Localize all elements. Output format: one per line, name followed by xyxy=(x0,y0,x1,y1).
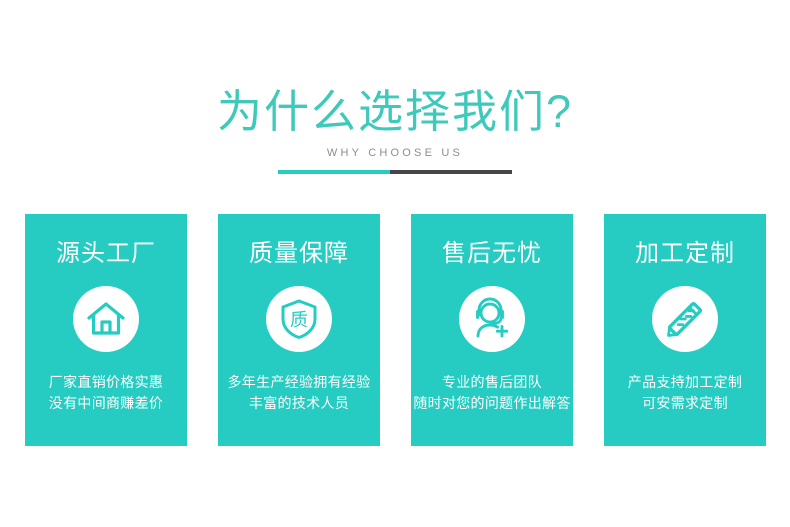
feature-card-custom-processing[interactable]: 加工定制 xyxy=(604,214,766,446)
house-icon xyxy=(84,297,128,341)
shield-quality-icon: 质 xyxy=(277,297,321,341)
title-divider xyxy=(278,170,512,174)
card-description: 专业的售后团队 随时对您的问题作出解答 xyxy=(411,372,573,414)
card-description-line-2: 丰富的技术人员 xyxy=(218,393,380,414)
card-description: 多年生产经验拥有经验 丰富的技术人员 xyxy=(218,372,380,414)
card-icon-circle xyxy=(652,286,718,352)
card-title: 质量保障 xyxy=(218,238,380,270)
feature-card-source-factory[interactable]: 源头工厂 厂家直销价格实惠 没有中间商赚差价 xyxy=(25,214,187,446)
divider-dark-segment xyxy=(390,170,512,174)
card-description-line-2: 没有中间商赚差价 xyxy=(25,393,187,414)
header-block: 为什么选择我们? WHY CHOOSE US xyxy=(0,84,790,161)
card-description-line-1: 专业的售后团队 xyxy=(411,372,573,393)
card-title: 售后无忧 xyxy=(411,238,573,270)
card-icon-circle xyxy=(73,286,139,352)
card-description: 产品支持加工定制 可安需求定制 xyxy=(604,372,766,414)
ruler-pencil-icon xyxy=(663,297,707,341)
feature-card-quality-guarantee[interactable]: 质量保障 质 多年生产经验拥有经验 丰富的技术人员 xyxy=(218,214,380,446)
feature-card-after-sales[interactable]: 售后无忧 xyxy=(411,214,573,446)
card-description-line-1: 多年生产经验拥有经验 xyxy=(218,372,380,393)
page-subtitle: WHY CHOOSE US xyxy=(0,146,790,161)
card-title: 加工定制 xyxy=(604,238,766,270)
card-icon-circle xyxy=(459,286,525,352)
card-description-line-1: 产品支持加工定制 xyxy=(604,372,766,393)
card-description-line-1: 厂家直销价格实惠 xyxy=(25,372,187,393)
promo-banner: 为什么选择我们? WHY CHOOSE US 源头工厂 xyxy=(0,0,790,527)
headset-support-icon xyxy=(470,297,514,341)
divider-accent-segment xyxy=(278,170,390,174)
card-icon-circle: 质 xyxy=(266,286,332,352)
feature-card-list: 源头工厂 厂家直销价格实惠 没有中间商赚差价 xyxy=(0,214,790,446)
card-description-line-2: 可安需求定制 xyxy=(604,393,766,414)
shield-glyph: 质 xyxy=(290,310,308,330)
card-description: 厂家直销价格实惠 没有中间商赚差价 xyxy=(25,372,187,414)
card-description-line-2: 随时对您的问题作出解答 xyxy=(411,393,573,414)
card-title: 源头工厂 xyxy=(25,238,187,270)
page-title: 为什么选择我们? xyxy=(0,84,790,140)
